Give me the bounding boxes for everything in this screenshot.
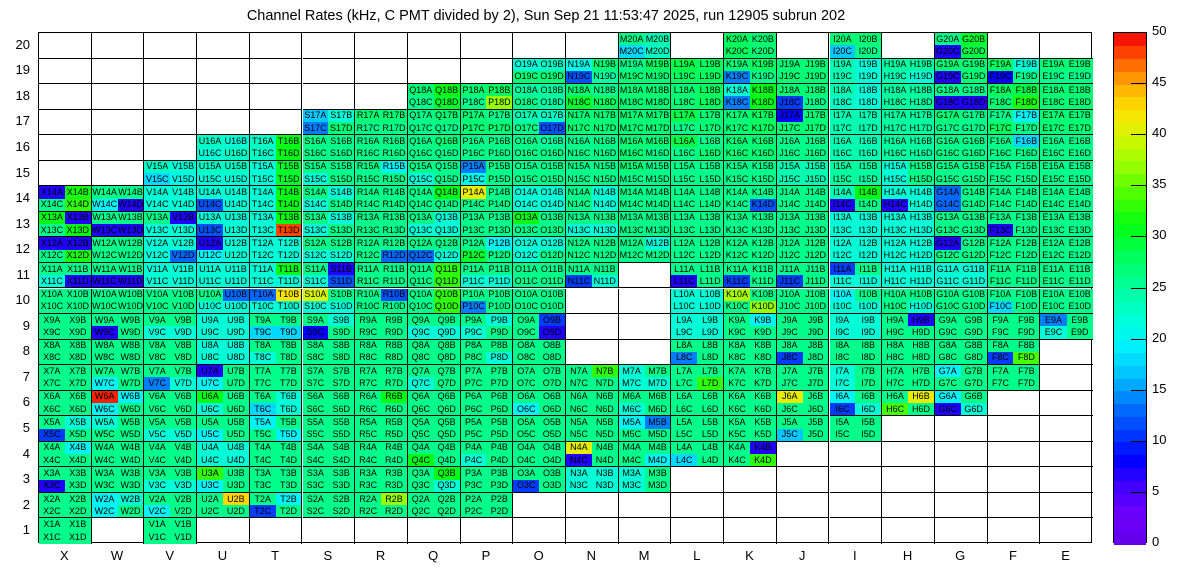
heatmap-quadrant: L14C bbox=[671, 199, 697, 211]
heatmap-cell: K12AK12BK12CK12D bbox=[724, 237, 777, 263]
heatmap-quadrant: L8C bbox=[671, 352, 697, 364]
heatmap-cell: X8AX8BX8CX8D bbox=[39, 340, 92, 366]
heatmap-quadrant: U10A bbox=[197, 289, 223, 301]
heatmap-quadrant: L19C bbox=[671, 71, 697, 83]
heatmap-quadrant: V2B bbox=[170, 493, 196, 505]
heatmap-cell bbox=[1040, 365, 1093, 391]
heatmap-quadrant: K4A bbox=[724, 442, 750, 454]
heatmap-quadrant: G9A bbox=[935, 314, 961, 326]
heatmap-quadrant: O7D bbox=[539, 377, 565, 389]
heatmap-quadrant: Q10C bbox=[408, 301, 434, 313]
heatmap-quadrant: I5C bbox=[830, 429, 856, 441]
heatmap-cell: V12AV12BV12CV12D bbox=[144, 237, 197, 263]
heatmap-cell: P16AP16BP16CP16D bbox=[461, 135, 514, 161]
heatmap-quadrant: I6B bbox=[855, 391, 881, 403]
heatmap-quadrant: X9A bbox=[39, 314, 65, 326]
heatmap-quadrant: S5A bbox=[303, 416, 329, 428]
heatmap-quadrant: O19A bbox=[513, 59, 539, 71]
colorbar-tick bbox=[1131, 441, 1147, 442]
heatmap-cell: V13AV13BV13CV13D bbox=[144, 212, 197, 238]
heatmap-quadrant: U11A bbox=[197, 263, 223, 275]
heatmap-quadrant: U8A bbox=[197, 340, 223, 352]
heatmap-quadrant: M7C bbox=[619, 377, 645, 389]
colorbar-tick-label: 20 bbox=[1152, 330, 1166, 345]
heatmap-quadrant: P15B bbox=[486, 161, 512, 173]
heatmap-quadrant: X10C bbox=[39, 301, 65, 313]
heatmap-cell bbox=[144, 84, 197, 110]
heatmap-quadrant: W2C bbox=[92, 505, 118, 517]
heatmap-quadrant: P14D bbox=[486, 199, 512, 211]
heatmap-cell: G10AG10BG10CG10D bbox=[935, 289, 988, 315]
heatmap-quadrant: Q14B bbox=[434, 186, 460, 198]
y-axis-tick-label: 7 bbox=[0, 369, 30, 384]
heatmap-quadrant: K14D bbox=[750, 199, 776, 211]
heatmap-quadrant: Q8D bbox=[434, 352, 460, 364]
heatmap-quadrant: U12D bbox=[223, 250, 249, 262]
heatmap-cell: K17AK17BK17CK17D bbox=[724, 110, 777, 136]
heatmap-quadrant: O9C bbox=[513, 326, 539, 338]
heatmap-quadrant: R13A bbox=[355, 212, 381, 224]
heatmap-quadrant: I6D bbox=[855, 403, 881, 415]
heatmap-cell: S16AS16BS16CS16D bbox=[303, 135, 356, 161]
heatmap-quadrant: O11A bbox=[513, 263, 539, 275]
x-axis-tick-label: V bbox=[143, 548, 196, 563]
heatmap-quadrant: M17D bbox=[645, 122, 671, 134]
heatmap-quadrant: E13D bbox=[1067, 224, 1093, 236]
heatmap-quadrant: T9A bbox=[250, 314, 276, 326]
heatmap-cell: J14AJ14BJ14CJ14D bbox=[777, 186, 830, 212]
heatmap-quadrant: I14D bbox=[855, 199, 881, 211]
x-axis-tick-label: E bbox=[1039, 548, 1092, 563]
heatmap-quadrant: N17C bbox=[566, 122, 592, 134]
heatmap-quadrant: I18D bbox=[855, 96, 881, 108]
heatmap-quadrant: L12B bbox=[697, 237, 723, 249]
heatmap-cell: M17AM17BM17CM17D bbox=[619, 110, 672, 136]
heatmap-quadrant: F12B bbox=[1013, 237, 1039, 249]
heatmap-quadrant: S9A bbox=[303, 314, 329, 326]
heatmap-cell: R12AR12BR12CR12D bbox=[355, 237, 408, 263]
heatmap-quadrant: H6B bbox=[908, 391, 934, 403]
heatmap-quadrant: N6D bbox=[592, 403, 618, 415]
heatmap-quadrant: E9A bbox=[1040, 314, 1066, 326]
heatmap-cell: W4AW4BW4CW4D bbox=[92, 442, 145, 468]
heatmap-cell: V2AV2BV2CV2D bbox=[144, 493, 197, 519]
heatmap-cell bbox=[777, 467, 830, 493]
heatmap-quadrant: S14B bbox=[328, 186, 354, 198]
heatmap-quadrant: E16C bbox=[1040, 147, 1066, 159]
heatmap-quadrant: O8D bbox=[539, 352, 565, 364]
heatmap-quadrant: L16A bbox=[671, 135, 697, 147]
heatmap-quadrant: H9A bbox=[882, 314, 908, 326]
heatmap-cell: K9AK9BK9CK9D bbox=[724, 314, 777, 340]
heatmap-quadrant: K7B bbox=[750, 365, 776, 377]
heatmap-quadrant: K17C bbox=[724, 122, 750, 134]
heatmap-quadrant: H12A bbox=[882, 237, 908, 249]
heatmap-grid: M20AM20BM20CM20DK20AK20BK20CK20DI20AI20B… bbox=[39, 33, 1091, 542]
heatmap-quadrant: F19D bbox=[1013, 71, 1039, 83]
heatmap-quadrant: P11B bbox=[486, 263, 512, 275]
heatmap-quadrant: P3B bbox=[486, 467, 512, 479]
heatmap-quadrant: Q6B bbox=[434, 391, 460, 403]
heatmap-quadrant: O11C bbox=[513, 275, 539, 287]
heatmap-quadrant: O5B bbox=[539, 416, 565, 428]
heatmap-quadrant: G20C bbox=[935, 45, 961, 57]
heatmap-quadrant: T14D bbox=[276, 199, 302, 211]
colorbar-tick-label: 50 bbox=[1152, 23, 1166, 38]
heatmap-quadrant: M18A bbox=[619, 84, 645, 96]
heatmap-cell bbox=[39, 161, 92, 187]
heatmap-quadrant: H19C bbox=[882, 71, 908, 83]
heatmap-quadrant: V8D bbox=[170, 352, 196, 364]
heatmap-cell: Q12AQ12BQ12CQ12D bbox=[408, 237, 461, 263]
heatmap-quadrant: H12D bbox=[908, 250, 934, 262]
heatmap-cell bbox=[566, 518, 619, 544]
heatmap-quadrant: M15B bbox=[645, 161, 671, 173]
colorbar-segment bbox=[1114, 314, 1146, 327]
heatmap-quadrant: K16C bbox=[724, 147, 750, 159]
heatmap-quadrant: M6B bbox=[645, 391, 671, 403]
heatmap-quadrant: U11B bbox=[223, 263, 249, 275]
heatmap-quadrant: V4D bbox=[170, 454, 196, 466]
heatmap-quadrant: H11B bbox=[908, 263, 934, 275]
heatmap-quadrant: S11A bbox=[303, 263, 329, 275]
heatmap-quadrant: P12B bbox=[486, 237, 512, 249]
heatmap-quadrant: N19B bbox=[592, 59, 618, 71]
heatmap-quadrant: Q6C bbox=[408, 403, 434, 415]
heatmap-quadrant: S13B bbox=[328, 212, 354, 224]
heatmap-quadrant: U2A bbox=[197, 493, 223, 505]
heatmap-quadrant: H7C bbox=[882, 377, 908, 389]
heatmap-quadrant: Q18A bbox=[408, 84, 434, 96]
heatmap-quadrant: J13B bbox=[803, 212, 829, 224]
heatmap-quadrant: P18D bbox=[486, 96, 512, 108]
heatmap-cell bbox=[830, 518, 883, 544]
heatmap-cell: T2AT2BT2CT2D bbox=[250, 493, 303, 519]
heatmap-cell: S17AS17BS17CS17D bbox=[303, 110, 356, 136]
heatmap-quadrant: N11A bbox=[566, 263, 592, 275]
heatmap-quadrant: O18C bbox=[513, 96, 539, 108]
heatmap-quadrant: I12A bbox=[830, 237, 856, 249]
y-axis-tick-label: 20 bbox=[0, 37, 30, 52]
heatmap-quadrant: T10D bbox=[276, 301, 302, 313]
heatmap-cell: S5AS5BS5CS5D bbox=[303, 416, 356, 442]
heatmap-quadrant: S2D bbox=[328, 505, 354, 517]
heatmap-quadrant: X4C bbox=[39, 454, 65, 466]
heatmap-cell: K4AK4BK4CK4D bbox=[724, 442, 777, 468]
heatmap-quadrant: H7D bbox=[908, 377, 934, 389]
heatmap-cell: U5AU5BU5CU5D bbox=[197, 416, 250, 442]
heatmap-cell bbox=[197, 33, 250, 59]
heatmap-cell: P8AP8BP8CP8D bbox=[461, 340, 514, 366]
heatmap-quadrant: R5A bbox=[355, 416, 381, 428]
heatmap-quadrant: P9A bbox=[461, 314, 487, 326]
heatmap-cell: M20AM20BM20CM20D bbox=[619, 33, 672, 59]
heatmap-quadrant: L13B bbox=[697, 212, 723, 224]
heatmap-quadrant: W6C bbox=[92, 403, 118, 415]
heatmap-quadrant: X5C bbox=[39, 429, 65, 441]
heatmap-cell bbox=[92, 161, 145, 187]
heatmap-quadrant: X9C bbox=[39, 326, 65, 338]
heatmap-quadrant: J12C bbox=[777, 250, 803, 262]
heatmap-cell: Q15AQ15BQ15CQ15D bbox=[408, 161, 461, 187]
heatmap-quadrant: P3C bbox=[461, 480, 487, 492]
heatmap-cell bbox=[830, 467, 883, 493]
heatmap-quadrant: E19B bbox=[1067, 59, 1093, 71]
heatmap-cell: N13AN13BN13CN13D bbox=[566, 212, 619, 238]
heatmap-cell: P15AP15BP15CP15D bbox=[461, 161, 514, 187]
heatmap-quadrant: J12D bbox=[803, 250, 829, 262]
heatmap-quadrant: F13B bbox=[1013, 212, 1039, 224]
heatmap-cell bbox=[777, 442, 830, 468]
heatmap-quadrant: F9C bbox=[988, 326, 1014, 338]
heatmap-quadrant: U10C bbox=[197, 301, 223, 313]
heatmap-quadrant: L4A bbox=[671, 442, 697, 454]
heatmap-quadrant: J12B bbox=[803, 237, 829, 249]
heatmap-quadrant: R7C bbox=[355, 377, 381, 389]
heatmap-quadrant: J18D bbox=[803, 96, 829, 108]
heatmap-quadrant: L12C bbox=[671, 250, 697, 262]
heatmap-quadrant: X8D bbox=[65, 352, 91, 364]
heatmap-quadrant: X3B bbox=[65, 467, 91, 479]
heatmap-cell: M12AM12BM12CM12D bbox=[619, 237, 672, 263]
heatmap-plot: M20AM20BM20CM20DK20AK20BK20CK20DI20AI20B… bbox=[38, 32, 1092, 543]
heatmap-cell bbox=[250, 518, 303, 544]
heatmap-quadrant: U4B bbox=[223, 442, 249, 454]
heatmap-quadrant: Q13B bbox=[434, 212, 460, 224]
heatmap-quadrant: R6A bbox=[355, 391, 381, 403]
heatmap-cell: Q13AQ13BQ13CQ13D bbox=[408, 212, 461, 238]
heatmap-quadrant: S5B bbox=[328, 416, 354, 428]
heatmap-quadrant: V6A bbox=[144, 391, 170, 403]
heatmap-quadrant: L9C bbox=[671, 326, 697, 338]
heatmap-quadrant: X10D bbox=[65, 301, 91, 313]
heatmap-quadrant: O17C bbox=[513, 122, 539, 134]
heatmap-quadrant: F18D bbox=[1013, 96, 1039, 108]
heatmap-cell: E11AE11BE11CE11D bbox=[1040, 263, 1093, 289]
heatmap-cell: R16AR16BR16CR16D bbox=[355, 135, 408, 161]
heatmap-cell: X3AX3BX3CX3D bbox=[39, 467, 92, 493]
heatmap-quadrant: N16A bbox=[566, 135, 592, 147]
heatmap-quadrant: S12B bbox=[328, 237, 354, 249]
heatmap-cell: S3AS3BS3CS3D bbox=[303, 467, 356, 493]
heatmap-quadrant: S7A bbox=[303, 365, 329, 377]
heatmap-quadrant: T15D bbox=[276, 173, 302, 185]
heatmap-quadrant: E10B bbox=[1067, 289, 1093, 301]
heatmap-quadrant: L16B bbox=[697, 135, 723, 147]
heatmap-quadrant: J19B bbox=[803, 59, 829, 71]
heatmap-cell: R5AR5BR5CR5D bbox=[355, 416, 408, 442]
heatmap-quadrant: O7B bbox=[539, 365, 565, 377]
heatmap-cell bbox=[250, 84, 303, 110]
heatmap-quadrant: K15B bbox=[750, 161, 776, 173]
heatmap-cell: S13AS13BS13CS13D bbox=[303, 212, 356, 238]
heatmap-quadrant: Q18C bbox=[408, 96, 434, 108]
heatmap-quadrant: U15C bbox=[197, 173, 223, 185]
heatmap-quadrant: T4B bbox=[276, 442, 302, 454]
heatmap-quadrant: U5D bbox=[223, 429, 249, 441]
heatmap-quadrant: E19C bbox=[1040, 71, 1066, 83]
heatmap-quadrant: F10B bbox=[1013, 289, 1039, 301]
heatmap-quadrant: H10D bbox=[908, 301, 934, 313]
heatmap-cell: F12AF12BF12CF12D bbox=[988, 237, 1041, 263]
heatmap-quadrant: W4C bbox=[92, 454, 118, 466]
heatmap-cell: F10AF10BF10CF10D bbox=[988, 289, 1041, 315]
heatmap-quadrant: I13A bbox=[830, 212, 856, 224]
heatmap-quadrant: X4B bbox=[65, 442, 91, 454]
heatmap-quadrant: L7B bbox=[697, 365, 723, 377]
heatmap-quadrant: T16A bbox=[250, 135, 276, 147]
heatmap-quadrant: S11C bbox=[303, 275, 329, 287]
heatmap-quadrant: P5B bbox=[486, 416, 512, 428]
heatmap-quadrant: K5B bbox=[750, 416, 776, 428]
heatmap-quadrant: R3D bbox=[381, 480, 407, 492]
heatmap-cell: M18AM18BM18CM18D bbox=[619, 84, 672, 110]
heatmap-quadrant: O9D bbox=[539, 326, 565, 338]
heatmap-quadrant: X13D bbox=[65, 224, 91, 236]
heatmap-quadrant: T8C bbox=[250, 352, 276, 364]
heatmap-quadrant: V15D bbox=[170, 173, 196, 185]
heatmap-quadrant: J9B bbox=[803, 314, 829, 326]
heatmap-quadrant: W10B bbox=[118, 289, 144, 301]
heatmap-quadrant: E11A bbox=[1040, 263, 1066, 275]
colorbar-tick bbox=[1131, 339, 1147, 340]
heatmap-quadrant: Q10D bbox=[434, 301, 460, 313]
heatmap-quadrant: W6A bbox=[92, 391, 118, 403]
heatmap-quadrant: T12B bbox=[276, 237, 302, 249]
heatmap-quadrant: T13D bbox=[276, 224, 302, 236]
heatmap-quadrant: G8B bbox=[961, 340, 987, 352]
colorbar-segment bbox=[1114, 59, 1146, 72]
heatmap-quadrant: V1D bbox=[170, 531, 196, 544]
heatmap-cell: F16AF16BF16CF16D bbox=[988, 135, 1041, 161]
heatmap-quadrant: O15A bbox=[513, 161, 539, 173]
heatmap-cell: F13AF13BF13CF13D bbox=[988, 212, 1041, 238]
heatmap-cell: O5AO5BO5CO5D bbox=[513, 416, 566, 442]
heatmap-quadrant: R16B bbox=[381, 135, 407, 147]
heatmap-cell: F9AF9BF9CF9D bbox=[988, 314, 1041, 340]
heatmap-cell: I6AI6BI6CI6D bbox=[830, 391, 883, 417]
heatmap-quadrant: J15A bbox=[777, 161, 803, 173]
heatmap-quadrant: U8C bbox=[197, 352, 223, 364]
heatmap-quadrant: I14C bbox=[830, 199, 856, 211]
heatmap-cell: H12AH12BH12CH12D bbox=[882, 237, 935, 263]
heatmap-quadrant: J8B bbox=[803, 340, 829, 352]
heatmap-cell: O17AO17BO17CO17D bbox=[513, 110, 566, 136]
heatmap-cell: W8AW8BW8CW8D bbox=[92, 340, 145, 366]
heatmap-quadrant: X6C bbox=[39, 403, 65, 415]
heatmap-quadrant: R2B bbox=[381, 493, 407, 505]
heatmap-quadrant: P4C bbox=[461, 454, 487, 466]
heatmap-cell: U7AU7BU7CU7D bbox=[197, 365, 250, 391]
heatmap-quadrant: K16B bbox=[750, 135, 776, 147]
heatmap-quadrant: I20A bbox=[830, 33, 856, 45]
y-axis-tick-label: 2 bbox=[0, 497, 30, 512]
heatmap-quadrant: P13C bbox=[461, 224, 487, 236]
heatmap-quadrant: T6A bbox=[250, 391, 276, 403]
heatmap-quadrant: K11B bbox=[750, 263, 776, 275]
heatmap-cell: R3AR3BR3CR3D bbox=[355, 467, 408, 493]
heatmap-quadrant: V5A bbox=[144, 416, 170, 428]
heatmap-quadrant: U3D bbox=[223, 480, 249, 492]
heatmap-cell: F8AF8BF8CF8D bbox=[988, 340, 1041, 366]
heatmap-quadrant: X10A bbox=[39, 289, 65, 301]
heatmap-cell: H14AH14BH14CH14D bbox=[882, 186, 935, 212]
heatmap-quadrant: U16D bbox=[223, 147, 249, 159]
heatmap-quadrant: X2C bbox=[39, 505, 65, 517]
heatmap-quadrant: G16D bbox=[961, 147, 987, 159]
heatmap-quadrant: K15C bbox=[724, 173, 750, 185]
heatmap-cell: O15AO15BO15CO15D bbox=[513, 161, 566, 187]
heatmap-quadrant: V13D bbox=[170, 224, 196, 236]
heatmap-quadrant: K13A bbox=[724, 212, 750, 224]
heatmap-quadrant: F11C bbox=[988, 275, 1014, 287]
heatmap-quadrant: F9A bbox=[988, 314, 1014, 326]
heatmap-quadrant: R14A bbox=[355, 186, 381, 198]
heatmap-quadrant: K4C bbox=[724, 454, 750, 466]
heatmap-quadrant: K5A bbox=[724, 416, 750, 428]
colorbar-segment bbox=[1114, 455, 1146, 468]
heatmap-cell: P14AP14BP14CP14D bbox=[461, 186, 514, 212]
heatmap-cell: P2AP2BP2CP2D bbox=[461, 493, 514, 519]
heatmap-cell: P13AP13BP13CP13D bbox=[461, 212, 514, 238]
heatmap-quadrant: P3A bbox=[461, 467, 487, 479]
heatmap-quadrant: L13C bbox=[671, 224, 697, 236]
heatmap-cell: U2AU2BU2CU2D bbox=[197, 493, 250, 519]
heatmap-quadrant: U6A bbox=[197, 391, 223, 403]
heatmap-quadrant: O3B bbox=[539, 467, 565, 479]
heatmap-quadrant: L4D bbox=[697, 454, 723, 466]
heatmap-quadrant: W8C bbox=[92, 352, 118, 364]
heatmap-quadrant: P7C bbox=[461, 377, 487, 389]
heatmap-quadrant: E11B bbox=[1067, 263, 1093, 275]
heatmap-quadrant: T14C bbox=[250, 199, 276, 211]
heatmap-quadrant: S2B bbox=[328, 493, 354, 505]
heatmap-quadrant: I16D bbox=[855, 147, 881, 159]
heatmap-quadrant: T7D bbox=[276, 377, 302, 389]
heatmap-quadrant: T3A bbox=[250, 467, 276, 479]
heatmap-quadrant: L14D bbox=[697, 199, 723, 211]
colorbar-segment bbox=[1114, 237, 1146, 250]
heatmap-cell: O8AO8BO8CO8D bbox=[513, 340, 566, 366]
heatmap-quadrant: V9B bbox=[170, 314, 196, 326]
heatmap-quadrant: N15A bbox=[566, 161, 592, 173]
heatmap-quadrant: J8C bbox=[777, 352, 803, 364]
heatmap-cell: I15AI15BI15CI15D bbox=[830, 161, 883, 187]
heatmap-quadrant: K7C bbox=[724, 377, 750, 389]
heatmap-cell: O14AO14BO14CO14D bbox=[513, 186, 566, 212]
heatmap-cell: S6AS6BS6CS6D bbox=[303, 391, 356, 417]
heatmap-cell bbox=[1040, 442, 1093, 468]
colorbar-tick-label: 40 bbox=[1152, 125, 1166, 140]
heatmap-quadrant: K18A bbox=[724, 84, 750, 96]
heatmap-quadrant: W5C bbox=[92, 429, 118, 441]
heatmap-quadrant: J5A bbox=[777, 416, 803, 428]
heatmap-quadrant: I13C bbox=[830, 224, 856, 236]
heatmap-quadrant: S8D bbox=[328, 352, 354, 364]
heatmap-quadrant: O15C bbox=[513, 173, 539, 185]
heatmap-quadrant: K12C bbox=[724, 250, 750, 262]
heatmap-quadrant: H19A bbox=[882, 59, 908, 71]
heatmap-quadrant: G7C bbox=[935, 377, 961, 389]
heatmap-quadrant: P8D bbox=[486, 352, 512, 364]
heatmap-quadrant: S8B bbox=[328, 340, 354, 352]
heatmap-quadrant: H16D bbox=[908, 147, 934, 159]
heatmap-quadrant: P7D bbox=[486, 377, 512, 389]
heatmap-quadrant: T12A bbox=[250, 237, 276, 249]
heatmap-cell: Q4AQ4BQ4CQ4D bbox=[408, 442, 461, 468]
heatmap-quadrant: Q3D bbox=[434, 480, 460, 492]
heatmap-quadrant: L17B bbox=[697, 110, 723, 122]
